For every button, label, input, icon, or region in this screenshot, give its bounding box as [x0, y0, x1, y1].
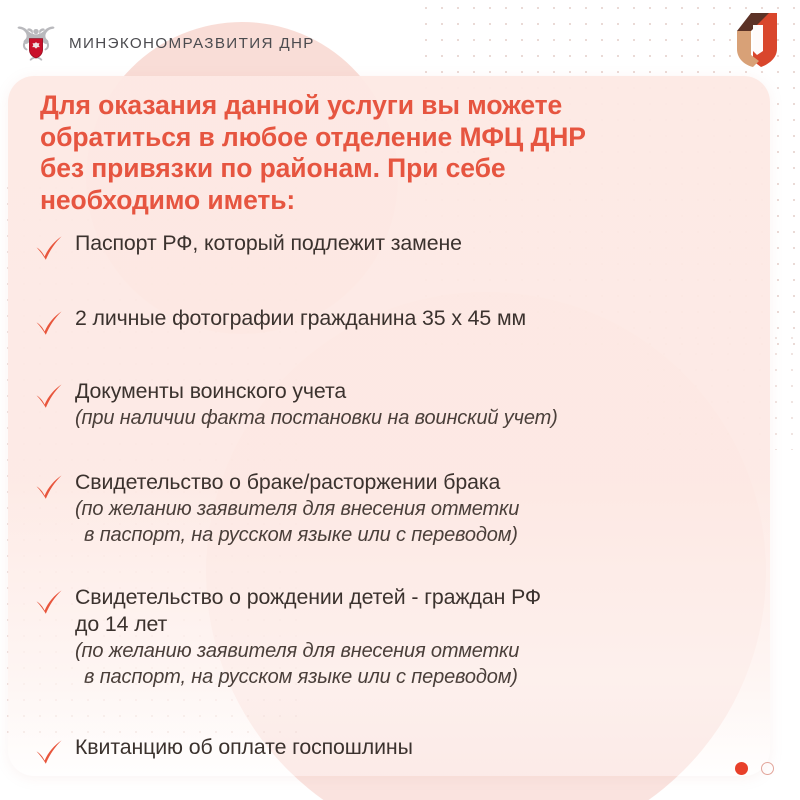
list-item-note: (по желанию заявителя для внесения отмет…	[75, 496, 764, 522]
list-item: Документы воинского учета (при наличии ф…	[34, 378, 764, 431]
card-content: Для оказания данной услуги вы можете обр…	[0, 0, 800, 800]
list-item-text: 2 личные фотографии гражданина 35 х 45 м…	[75, 305, 764, 332]
heading-line: Для оказания данной услуги вы можете	[40, 90, 710, 122]
list-item-note: в паспорт, на русском языке или с перево…	[75, 522, 764, 548]
list-item-text: до 14 лет	[75, 611, 764, 638]
checkmark-icon	[34, 233, 64, 263]
heading-line: обратиться в любое отделение МФЦ ДНР	[40, 122, 710, 154]
requirements-list: Паспорт РФ, который подлежит замене 2 ли…	[34, 230, 764, 767]
heading-line: без привязки по районам. При себе	[40, 153, 710, 185]
list-item-body: Документы воинского учета (при наличии ф…	[75, 378, 764, 431]
dnr-double-headed-eagle-emblem-icon	[14, 20, 58, 66]
organization-name: МИНЭКОНОМРАЗВИТИЯ ДНР	[69, 35, 315, 52]
list-item-text: Паспорт РФ, который подлежит замене	[75, 230, 764, 257]
page-title: Для оказания данной услуги вы можете обр…	[40, 90, 710, 216]
list-item-text: Свидетельство о браке/расторжении брака	[75, 469, 764, 496]
heading-line: необходимо иметь:	[40, 185, 710, 217]
checkmark-icon	[34, 737, 64, 767]
checkmark-icon	[34, 308, 64, 338]
checkmark-icon	[34, 587, 64, 617]
list-item-note: (по желанию заявителя для внесения отмет…	[75, 638, 764, 664]
list-item-body: Паспорт РФ, который подлежит замене	[75, 230, 764, 257]
checkmark-icon	[34, 472, 64, 502]
list-item-body: 2 личные фотографии гражданина 35 х 45 м…	[75, 305, 764, 332]
list-item-body: Квитанцию об оплате госпошлины	[75, 734, 764, 761]
pagination-dot[interactable]	[761, 762, 774, 775]
list-item: Свидетельство о браке/расторжении брака …	[34, 469, 764, 548]
list-item: Паспорт РФ, который подлежит замене	[34, 230, 764, 263]
list-item-text: Документы воинского учета	[75, 378, 764, 405]
list-item-note: (при наличии факта постановки на воински…	[75, 405, 764, 431]
list-item-note: в паспорт, на русском языке или с перево…	[75, 664, 764, 690]
list-item-body: Свидетельство о рождении детей - граждан…	[75, 584, 764, 690]
list-item-text: Квитанцию об оплате госпошлины	[75, 734, 764, 761]
checkmark-icon	[34, 381, 64, 411]
mfc-shield-logo-icon[interactable]	[729, 11, 779, 69]
brand-header: МИНЭКОНОМРАЗВИТИЯ ДНР	[14, 20, 315, 66]
list-item: Свидетельство о рождении детей - граждан…	[34, 584, 764, 690]
list-item: 2 личные фотографии гражданина 35 х 45 м…	[34, 305, 764, 338]
pagination-dot-active[interactable]	[735, 762, 748, 775]
list-item-body: Свидетельство о браке/расторжении брака …	[75, 469, 764, 548]
list-item: Квитанцию об оплате госпошлины	[34, 734, 764, 767]
carousel-pagination	[735, 762, 774, 775]
list-item-text: Свидетельство о рождении детей - граждан…	[75, 584, 764, 611]
